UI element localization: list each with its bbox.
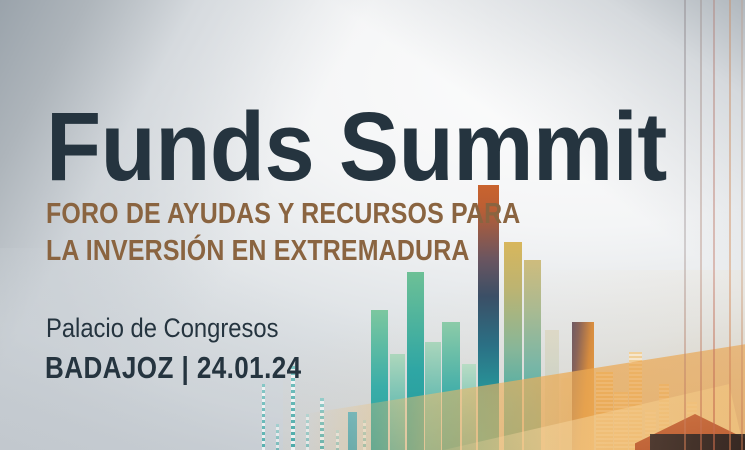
chart-bar xyxy=(262,384,265,450)
vertical-hairline xyxy=(684,0,686,450)
venue-name: Palacio de Congresos xyxy=(46,313,278,344)
city-and-date: BADAJOZ | 24.01.24 xyxy=(45,350,302,386)
page-title: Funds Summit xyxy=(46,99,667,194)
vertical-hairline xyxy=(729,0,731,450)
chart-bar xyxy=(276,424,279,450)
vertical-hairline xyxy=(713,0,715,450)
subtitle-line-2: LA INVERSIÓN EN EXTREMADURA xyxy=(46,233,520,270)
poster-subtitle: FORO DE AYUDAS Y RECURSOS PARA LA INVERS… xyxy=(46,196,520,270)
vertical-hairline xyxy=(741,0,743,450)
event-poster: Funds Summit FORO DE AYUDAS Y RECURSOS P… xyxy=(0,0,745,450)
subtitle-line-1: FORO DE AYUDAS Y RECURSOS PARA xyxy=(46,198,520,230)
vertical-hairline xyxy=(700,0,702,450)
